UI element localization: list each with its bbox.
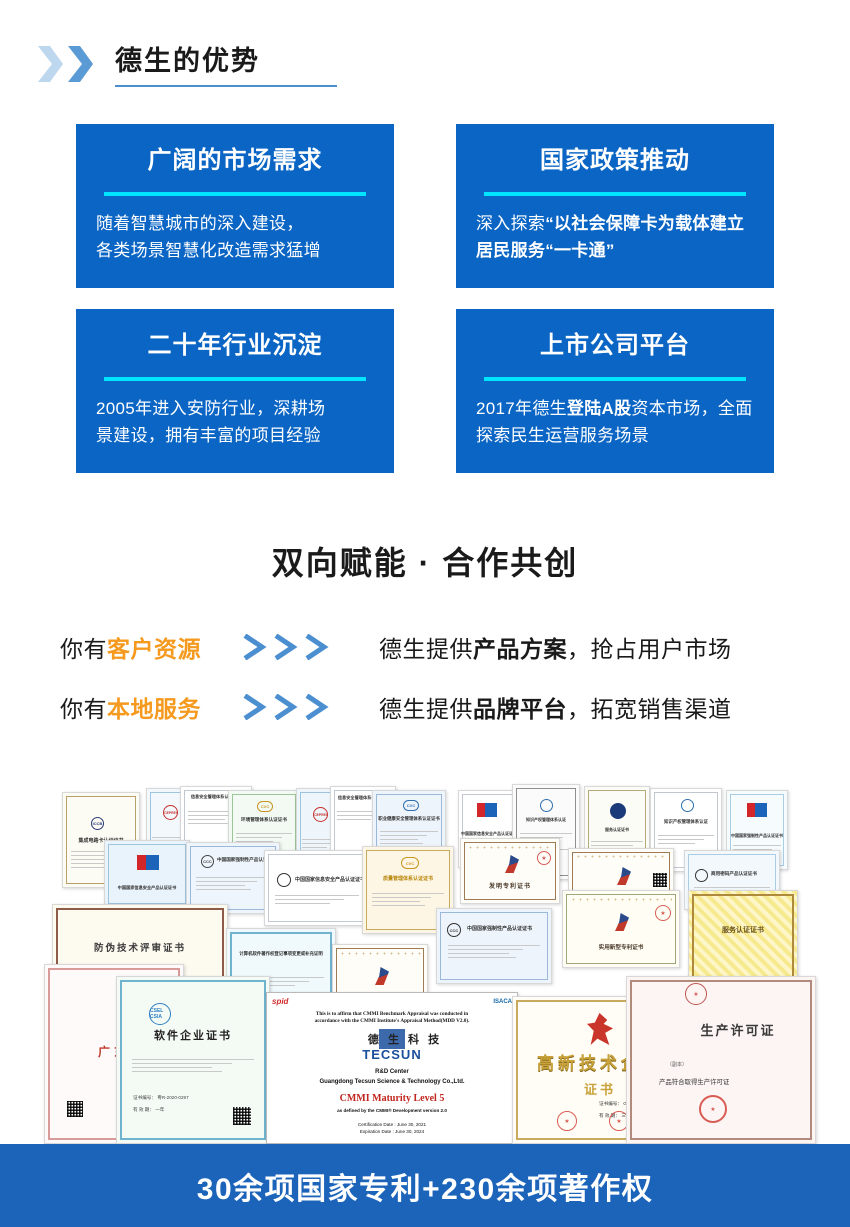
certificate-software-enterprise: CSEL CSIA 软件企业证书 证书编号： 粤R-2020-0297 有 效 …	[116, 976, 270, 1144]
card-body-pre: 2017年德生	[476, 399, 567, 418]
advantage-card-market-demand: 广阔的市场需求 随着智慧城市的深入建设， 各类场景智慧化改造需求猛增	[76, 124, 394, 288]
bottom-banner: 30余项国家专利+230余项著作权	[0, 1144, 850, 1227]
cmmi-company: Guangdong Tecsun Science & Technology Co…	[267, 1079, 517, 1085]
synergy-row-customer-resource: 你有客户资源 德生提供产品方案，抢占用户市场	[0, 626, 850, 668]
card-title: 国家政策推动	[476, 146, 754, 176]
synergy-left-prefix: 你有	[60, 636, 107, 662]
certificate-collage: ICCB 集成电路卡认证证书 CEPREI 信息安全管理体系认证证书 CVC 环…	[0, 764, 850, 1145]
card-divider	[484, 192, 746, 196]
certificate-thumb: 发明专利证书	[460, 838, 560, 904]
card-body-line: 景建设，拥有丰富的项目经验	[96, 422, 374, 449]
bottom-banner-text: 30余项国家专利+230余项著作权	[197, 1164, 653, 1208]
card-divider	[104, 377, 366, 381]
certificate-title: 知识产权管理体系认证	[651, 819, 721, 825]
iccb-logo-icon: ICCB	[91, 817, 104, 830]
card-body-line: 2005年进入安防行业，深耕场	[96, 395, 374, 422]
chevron-right-icon	[241, 694, 271, 720]
title-underline	[115, 85, 337, 87]
certificate-title: 中国国家强制性产品认证证书	[467, 925, 547, 932]
isaca-logo-icon: ISACA	[493, 999, 512, 1005]
synergy-left-highlight: 本地服务	[107, 696, 201, 722]
certificate-thumb: 中国国家信息安全产品认证证书	[104, 840, 190, 908]
official-seal-icon	[655, 905, 671, 921]
double-chevron-right-icon	[36, 45, 93, 83]
certificate-cmmi: spid ISACA This is to affirm that CMMI B…	[266, 992, 518, 1144]
advantage-card-grid: 广阔的市场需求 随着智慧城市的深入建设， 各类场景智慧化改造需求猛增 国家政策推…	[76, 124, 774, 473]
cmmi-certification-date: Certification Date : June 30, 2021	[267, 1121, 517, 1128]
card-body: 2005年进入安防行业，深耕场 景建设，拥有丰富的项目经验	[96, 395, 374, 449]
card-body: 深入探索“以社会保障卡为载体建立居民服务“一卡通”	[476, 210, 754, 264]
certificate-body: 产品符合取得生产许可证	[659, 1077, 729, 1086]
cmmi-subtitle: R&D Center	[267, 1069, 517, 1075]
cmmi-expiration-date: Expiration Date : June 30, 2024	[267, 1128, 517, 1135]
certificate-production-license: 生产许可证 （副本） 产品符合取得生产许可证	[626, 976, 816, 1144]
qr-code-icon	[233, 1107, 251, 1125]
card-body-normal: 深入探索	[476, 214, 545, 233]
synergy-right-suffix: ，拓宽销售渠道	[567, 696, 732, 722]
certificate-thumb: 中国国家信息安全产品认证证书	[264, 850, 370, 926]
card-title: 二十年行业沉淀	[96, 331, 374, 361]
card-title: 上市公司平台	[476, 331, 754, 361]
cmmi-affirm-line2: accordance with the CMMI Institute's App…	[273, 1018, 511, 1025]
card-body-line: 随着智慧城市的深入建设，	[96, 210, 374, 237]
certificate-number: 证书编号： 粤R-2020-0297	[133, 1095, 189, 1101]
qr-code-icon	[653, 873, 667, 887]
certificate-title: 中国国家信息安全产品认证证书	[105, 885, 189, 891]
cvc-logo-icon: CVC	[401, 857, 419, 869]
card-body: 随着智慧城市的深入建设， 各类场景智慧化改造需求猛增	[96, 210, 374, 264]
brand-name-en: TECSUN	[267, 1047, 517, 1062]
brand-mark-icon	[137, 855, 159, 870]
certificate-title: 计算机软件著作权登记事项变更或补充证明	[227, 951, 335, 957]
chevron-right-icon	[272, 694, 302, 720]
official-seal-icon	[537, 851, 551, 865]
advantage-card-national-policy: 国家政策推动 深入探索“以社会保障卡为载体建立居民服务“一卡通”	[456, 124, 774, 288]
card-body-line: 各类场景智慧化改造需求猛增	[96, 237, 374, 264]
certificate-title: 职业健康安全管理体系认证证书	[373, 816, 445, 822]
official-seal-icon	[699, 1095, 727, 1123]
certificate-title: 防伪技术评审证书	[53, 940, 227, 954]
advantage-page: 德生的优势 广阔的市场需求 随着智慧城市的深入建设， 各类场景智慧化改造需求猛增…	[0, 0, 850, 1227]
triple-chevron-right-icon	[241, 634, 341, 660]
advantage-card-listed-company: 上市公司平台 2017年德生登陆A股资本市场，全面探索民生运营服务场景	[456, 309, 774, 473]
ccc-logo-icon: CCC	[447, 923, 461, 937]
synergy-right-prefix: 德生提供	[379, 696, 473, 722]
triple-chevron-right-icon	[241, 694, 341, 720]
chevron-right-dark-icon	[66, 45, 93, 83]
synergy-left: 你有客户资源	[60, 630, 235, 664]
certificate-thumb: 实用新型专利证书	[562, 890, 680, 968]
certificate-title: 生产许可证	[661, 1020, 815, 1039]
page-title-wrap: 德生的优势	[115, 45, 260, 83]
section-header: 德生的优势	[0, 34, 850, 94]
certificate-title: 环境管理体系认证证书	[229, 817, 299, 823]
card-title: 广阔的市场需求	[96, 146, 374, 176]
ccc-logo-icon: CCC	[201, 855, 214, 868]
brand-mark-icon	[477, 803, 497, 817]
chevron-right-icon	[241, 634, 271, 660]
certificate-note: （副本）	[667, 1061, 687, 1068]
ceprei-logo-icon: CEPREI	[163, 805, 178, 820]
card-body-bold: 登陆A股	[567, 399, 631, 418]
synergy-right: 德生提供产品方案，抢占用户市场	[379, 630, 732, 664]
certificate-title: 中国国家信息安全产品认证证书	[459, 831, 519, 837]
spid-logo-icon: spid	[272, 997, 288, 1006]
csel-csia-logo-icon: CSEL CSIA	[149, 1003, 171, 1025]
certificate-title: 中国国家信息安全产品认证证书	[295, 876, 365, 883]
advantage-card-industry-experience: 二十年行业沉淀 2005年进入安防行业，深耕场 景建设，拥有丰富的项目经验	[76, 309, 394, 473]
chevron-right-icon	[303, 634, 333, 660]
certificate-title: 发明专利证书	[461, 881, 559, 890]
certificate-title: 服务认证证书	[689, 925, 797, 935]
chevron-right-light-icon	[36, 45, 63, 83]
cvc-logo-icon: CVC	[403, 800, 419, 811]
synergy-heading: 双向赋能 · 合作共创	[0, 538, 850, 584]
certificate-title: 中国国家强制性产品认证证书	[727, 833, 787, 839]
synergy-left-highlight: 客户资源	[107, 636, 201, 662]
national-emblem-icon	[685, 983, 707, 1005]
synergy-right-prefix: 德生提供	[379, 636, 473, 662]
synergy-right-bold: 品牌平台	[473, 696, 567, 722]
synergy-left-prefix: 你有	[60, 696, 107, 722]
page-title: 德生的优势	[115, 45, 260, 77]
brand-name-cn: 德 生 科 技	[293, 1031, 517, 1047]
certificate-title: 服务认证证书	[585, 827, 649, 833]
certificate-title: 知识产权管理体系认证	[513, 817, 579, 823]
ceprei-logo-icon: CEPREI	[313, 807, 328, 822]
chevron-right-icon	[303, 694, 333, 720]
synergy-left: 你有本地服务	[60, 690, 235, 724]
card-divider	[484, 377, 746, 381]
cmmi-definition: as defined by the CMMI® Development vers…	[267, 1108, 517, 1113]
certificate-thumb: 服务认证证书	[688, 890, 798, 982]
certificate-validity: 有 效 期： 一年	[133, 1107, 164, 1113]
synergy-right: 德生提供品牌平台，拓宽销售渠道	[379, 690, 732, 724]
certificate-title: 质量管理体系认证证书	[363, 875, 453, 882]
certificate-title: 软件企业证书	[117, 1027, 269, 1043]
ip-logo-icon	[540, 799, 553, 812]
qr-code-icon	[67, 1101, 83, 1117]
cmmi-affirm-line1: This is to affirm that CMMI Benchmark Ap…	[273, 1011, 511, 1018]
certificate-thumb: CCC 中国国家强制性产品认证证书	[436, 908, 552, 984]
cvc-logo-icon: CVC	[257, 801, 273, 812]
ip-logo-icon	[681, 799, 694, 812]
synergy-row-local-service: 你有本地服务 德生提供品牌平台，拓宽销售渠道	[0, 686, 850, 728]
card-divider	[104, 192, 366, 196]
seal-logo-icon	[610, 803, 626, 819]
brand-mark-icon	[747, 803, 767, 817]
certificate-title: 实用新型专利证书	[563, 943, 679, 951]
synergy-right-bold: 产品方案	[473, 636, 567, 662]
certification-logo-icon	[695, 869, 708, 882]
cmmi-level: CMMI Maturity Level 5	[267, 1093, 517, 1104]
synergy-right-suffix: ，抢占用户市场	[567, 636, 732, 662]
certification-logo-icon	[277, 873, 291, 887]
card-body: 2017年德生登陆A股资本市场，全面探索民生运营服务场景	[476, 395, 754, 449]
official-seal-icon	[557, 1111, 577, 1131]
chevron-right-icon	[272, 634, 302, 660]
synergy-section: 你有客户资源 德生提供产品方案，抢占用户市场 你有本地服务 德生提供品牌平台，拓…	[0, 626, 850, 746]
certificate-title: 商用密码产品认证证书	[711, 871, 776, 877]
